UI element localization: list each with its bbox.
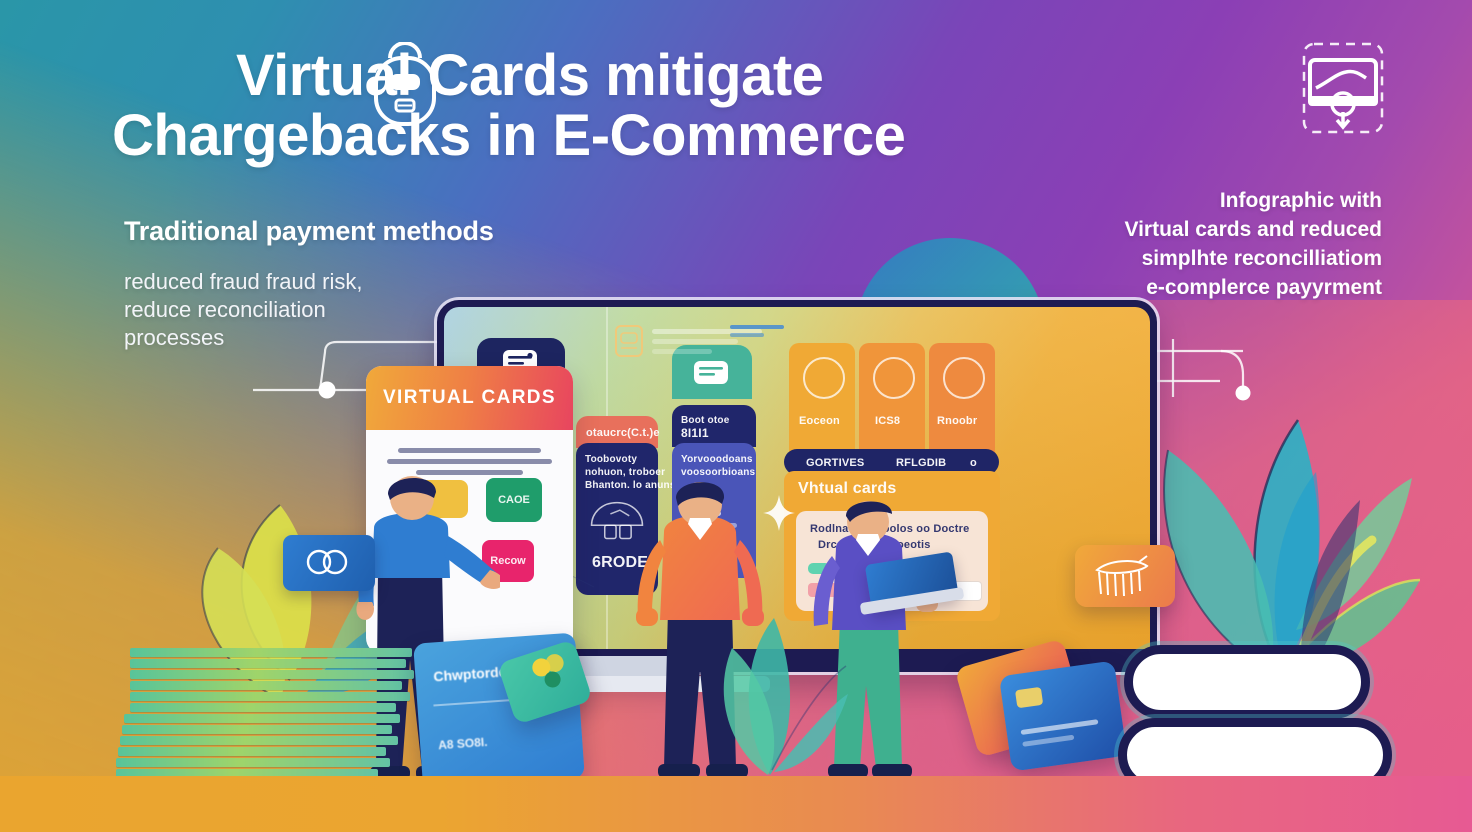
foliage-center [700,570,850,780]
left-heading: Traditional payment methods [124,216,494,247]
title-line-1: Virtual Cards mitigate [112,46,1072,106]
pill-bar-top[interactable] [1124,645,1370,719]
kpi-widget-amber-3[interactable]: Rnoobr [929,343,995,461]
coin-icon [873,357,915,399]
right-line-4: e-complerce payyrment [1082,273,1382,302]
left-body: reduced fraud fraud risk, reduce reconci… [124,268,454,352]
title-line-2: Chargebacks in E-Commerce [112,106,1072,166]
bottom-card-navy [999,660,1127,771]
status-line-2: 8I1I1 [681,425,709,441]
mini-card-green-label: CAOE [498,494,530,506]
tab-1[interactable]: GORTIVES [806,455,864,471]
card-download-icon [1296,38,1390,140]
status-widget-navy[interactable]: Boot otoe 8I1I1 [672,405,756,447]
bottom-card-label: Chwptorde [433,663,507,684]
infographic-canvas: Virtual Cards mitigate Chargebacks in E-… [0,0,1472,832]
held-card-blue [283,535,375,591]
kpi-label-3: Rnoobr [937,413,977,429]
right-line-2: Virtual cards and reduced [1082,215,1382,244]
alert-label: otaucrc(C.t.)e [586,425,660,441]
page-title: Virtual Cards mitigate Chargebacks in E-… [112,46,1072,166]
kpi-label-1: Eoceon [799,413,840,429]
bottom-card-sub: A8 SO8I. [438,735,488,752]
left-body-line-3: processes [124,324,454,352]
header: Virtual Cards mitigate Chargebacks in E-… [112,46,1072,166]
kpi-widget-amber-2[interactable]: ICS8 [859,343,925,461]
right-text-block: Infographic with Virtual cards and reduc… [1082,186,1382,302]
card-chip [1015,687,1043,708]
kpi-label-2: ICS8 [875,413,900,429]
tab-2[interactable]: RFLGDIB [896,455,946,471]
right-line-3: simplhte reconcilliatiom [1082,244,1382,273]
right-line-1: Infographic with [1082,186,1382,215]
document-icon [612,323,646,359]
brush-icon [1089,552,1159,598]
left-body-line-1: reduced fraud fraud risk, [124,268,454,296]
money-stack [130,648,420,778]
kpi-widget-amber-1[interactable]: Eoceon [789,343,855,461]
left-body-line-2: reduce reconciliation [124,296,454,324]
padlock-card-icon [370,42,440,126]
brush-badge[interactable] [1075,545,1175,607]
card-logo-icon [299,547,359,577]
virtual-cards-title: VIRTUAL CARDS [383,387,556,409]
coin-icon [943,357,985,399]
foliage-right [1120,380,1420,680]
floor [0,776,1472,832]
virtual-cards-header: VIRTUAL CARDS [366,366,573,430]
coin-icon [803,357,845,399]
card-icon [692,357,732,387]
